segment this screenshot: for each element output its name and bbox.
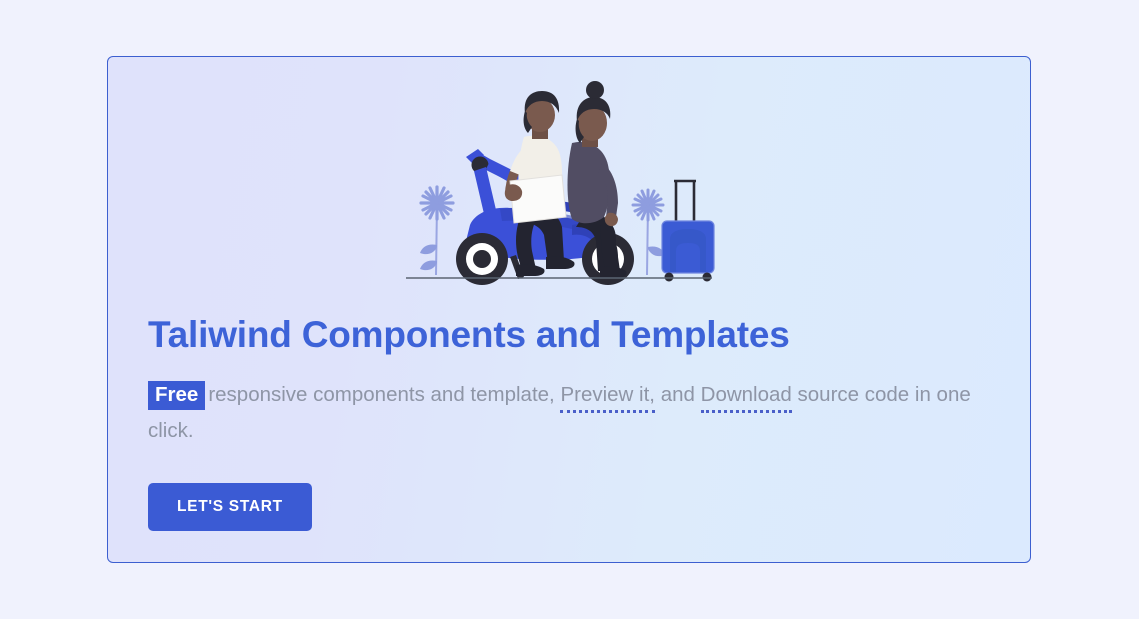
suitcase-icon [662, 181, 714, 282]
download-link[interactable]: Download [701, 383, 792, 413]
hero-content: Taliwind Components and Templates Freere… [148, 313, 1008, 531]
hero-subtitle: Freeresponsive components and template, … [148, 377, 988, 449]
page-root: Taliwind Components and Templates Freere… [0, 0, 1139, 619]
couple-with-scooter-and-suitcase-illustration [404, 75, 744, 307]
hero-card: Taliwind Components and Templates Freere… [107, 56, 1031, 563]
free-badge: Free [148, 381, 205, 410]
preview-it-link[interactable]: Preview it, [560, 383, 655, 413]
flower-left-icon [420, 187, 453, 275]
flower-right-icon [633, 190, 665, 275]
lets-start-button[interactable]: LET'S START [148, 483, 312, 531]
page-title: Taliwind Components and Templates [148, 313, 1008, 357]
subtitle-text-part1: responsive components and template, [208, 383, 554, 406]
subtitle-text-part2: and [661, 383, 695, 406]
